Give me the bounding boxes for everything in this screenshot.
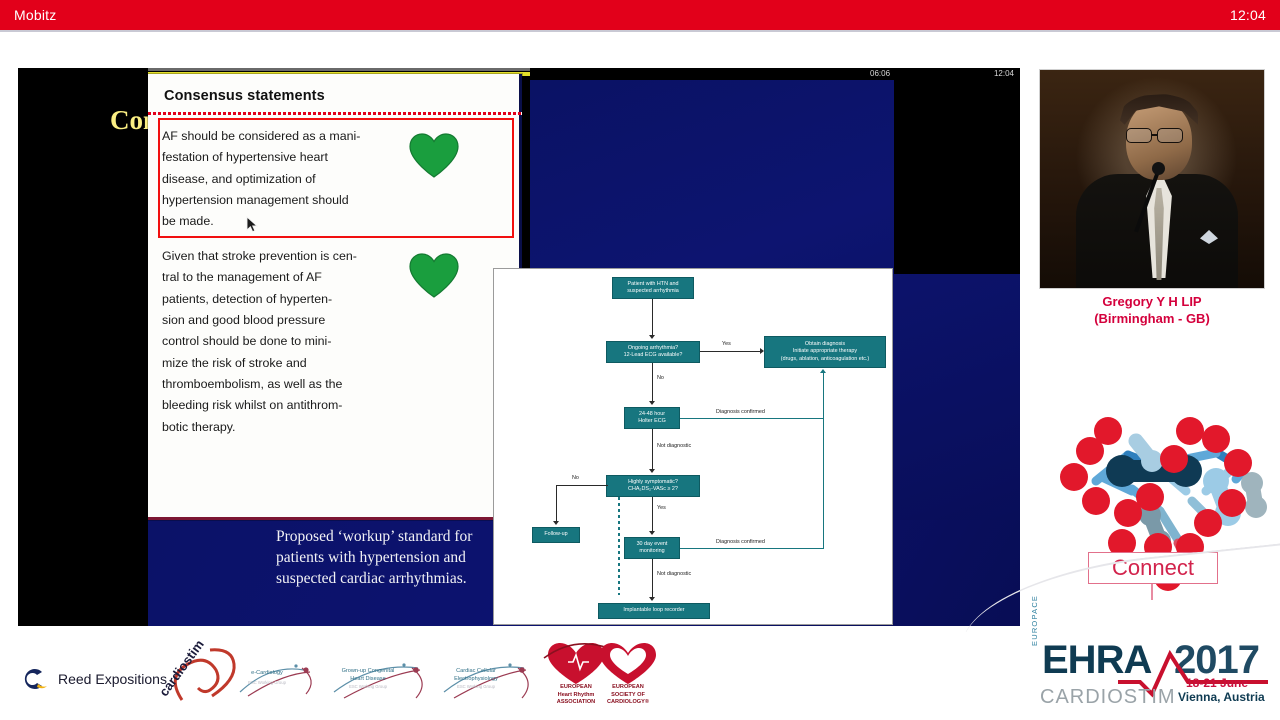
embedded-timecode-band: 06:06 12:04 <box>530 68 1020 80</box>
flow-arrow <box>649 597 655 601</box>
reed-expositions-icon <box>20 666 50 692</box>
flow-label-diagnosis-confirmed: Diagnosis confirmed <box>716 409 765 415</box>
green-heart-icon <box>408 132 460 178</box>
consensus-panel: Consensus statements AF should be consid… <box>148 74 522 520</box>
speaker-glasses-bridge <box>1152 134 1158 136</box>
flow-arrow <box>649 469 655 473</box>
slide-background-black-right <box>894 68 1020 274</box>
top-bar-divider <box>0 30 1280 32</box>
sponsor-european-society-of-cardiology: EUROPEAN SOCIETY OF CARDIOLOGY® <box>592 640 664 704</box>
sponsor-strip: Reed Expositions cardiostim e-Cardiology… <box>0 632 1010 720</box>
consensus-statement-2: Given that stroke prevention is cen- tra… <box>162 246 508 438</box>
event-logo: EUROPACE EHRA 2017 CARDIOSTIM 18-21 June… <box>1026 636 1276 720</box>
sponsor-e-cardiology-sub: ESC Working Group <box>236 680 298 685</box>
flow-edge <box>556 485 608 486</box>
speaker-name-label: Gregory Y H LIP (Birmingham - GB) <box>1040 293 1264 328</box>
event-logo-dates: 18-21 June <box>1186 676 1248 690</box>
flow-edge-dotted <box>618 497 620 595</box>
speaker-glasses-left <box>1126 128 1152 143</box>
event-logo-city: Vienna, Austria <box>1178 690 1265 704</box>
sponsor-esc-label: EUROPEAN SOCIETY OF CARDIOLOGY® <box>592 684 664 707</box>
clock-label: 12:04 <box>1230 7 1266 23</box>
sponsor-cce-label: Cardiac Cellular Electrophysiology <box>440 668 512 683</box>
sponsor-cardiac-cellular-electrophysiology: Cardiac Cellular Electrophysiology ESC W… <box>440 660 540 709</box>
consensus-panel-header: Consensus statements <box>164 88 325 104</box>
flow-edge <box>652 559 653 599</box>
event-logo-europace: EUROPACE <box>1030 595 1039 646</box>
flow-node-implantable-loop-recorder: Implantable loop recorder <box>598 603 710 619</box>
flow-label-yes-2: Yes <box>657 505 666 511</box>
consensus-dotted-divider <box>148 112 522 115</box>
flow-node-patient-htn: Patient with HTN and suspected arrhythmi… <box>612 277 694 299</box>
consensus-statement-2-text: Given that stroke prevention is cen- tra… <box>162 246 402 438</box>
flow-label-diagnosis-confirmed-2: Diagnosis confirmed <box>716 539 765 545</box>
flow-arrow <box>553 521 559 525</box>
sponsor-guch-label: Grown-up Congenital Heart Disease <box>330 668 406 683</box>
sponsor-guch-sub: ESC Working Group <box>330 684 406 689</box>
microphone-icon <box>1152 162 1165 175</box>
slide-workup-caption: Proposed ‘workup’ standard for patients … <box>276 526 518 590</box>
flow-arrow <box>649 401 655 405</box>
flow-edge <box>556 485 557 523</box>
speaker-glasses-right <box>1157 128 1183 143</box>
flow-arrow <box>649 335 655 339</box>
slide-background-black-left <box>18 520 148 626</box>
flow-edge <box>700 351 762 352</box>
flow-edge <box>680 418 824 419</box>
flow-edge <box>652 497 653 533</box>
flow-node-holter-ecg: 24-48 hour Holter ECG <box>624 407 680 429</box>
flow-edge <box>652 363 653 403</box>
page-title: Mobitz <box>14 7 56 23</box>
flow-node-follow-up: Follow-up <box>532 527 580 543</box>
flow-edge <box>652 299 653 337</box>
flow-node-highly-symptomatic: Highly symptomatic? CHA₂DS₂-VASc ≥ 2? <box>606 475 700 497</box>
embedded-timecode-right: 12:04 <box>994 69 1014 78</box>
speaker-video-thumbnail[interactable] <box>1040 70 1264 288</box>
video-player-page: Mobitz 12:04 06:06 12:04 Consensus state… <box>0 0 1280 720</box>
flow-arrow <box>649 531 655 535</box>
flow-label-not-diagnostic-2: Not diagnostic <box>657 571 691 577</box>
consensus-statement-1: AF should be considered as a mani- festa… <box>162 126 508 233</box>
slide-stage[interactable]: 06:06 12:04 Consensus statements Propose… <box>18 68 1020 626</box>
esc-heart-icon <box>592 640 664 686</box>
flow-node-30-day-event-monitoring: 30 day event monitoring <box>624 537 680 559</box>
flow-node-obtain-diagnosis: Obtain diagnosis Initiate appropriate th… <box>764 336 886 368</box>
sponsor-e-cardiology: e-Cardiology ESC Working Group <box>236 662 320 707</box>
sponsor-grown-up-congenital-heart-disease: Grown-up Congenital Heart Disease ESC Wo… <box>330 660 434 709</box>
flow-label-yes: Yes <box>722 341 731 347</box>
flow-label-not-diagnostic: Not diagnostic <box>657 443 691 449</box>
flow-edge <box>680 548 824 549</box>
green-heart-icon <box>408 252 460 298</box>
speaker-photo <box>1040 70 1264 288</box>
consensus-panel-bottom-rule <box>148 517 522 520</box>
flow-edge <box>823 373 824 549</box>
slide-grey-rule <box>148 68 538 71</box>
top-bar: Mobitz 12:04 <box>0 0 1280 30</box>
flow-label-no-2: No <box>572 475 579 481</box>
flow-edge <box>652 429 653 471</box>
flowchart-panel: Patient with HTN and suspected arrhythmi… <box>493 268 893 625</box>
sponsor-e-cardiology-label: e-Cardiology <box>236 670 298 678</box>
embedded-timecode-left: 06:06 <box>870 69 890 78</box>
sponsor-reed-expositions: Reed Expositions <box>20 666 167 692</box>
flow-node-ongoing-arrhythmia: Ongoing arrhythmia? 12-Lead ECG availabl… <box>606 341 700 363</box>
event-logo-cardiostim: CARDIOSTIM <box>1040 686 1176 709</box>
sponsor-reed-expositions-label: Reed Expositions <box>58 671 167 687</box>
flow-label-no: No <box>657 375 664 381</box>
sponsor-cce-sub: ESC Working Group <box>440 684 512 689</box>
consensus-statement-1-text: AF should be considered as a mani- festa… <box>162 126 402 233</box>
